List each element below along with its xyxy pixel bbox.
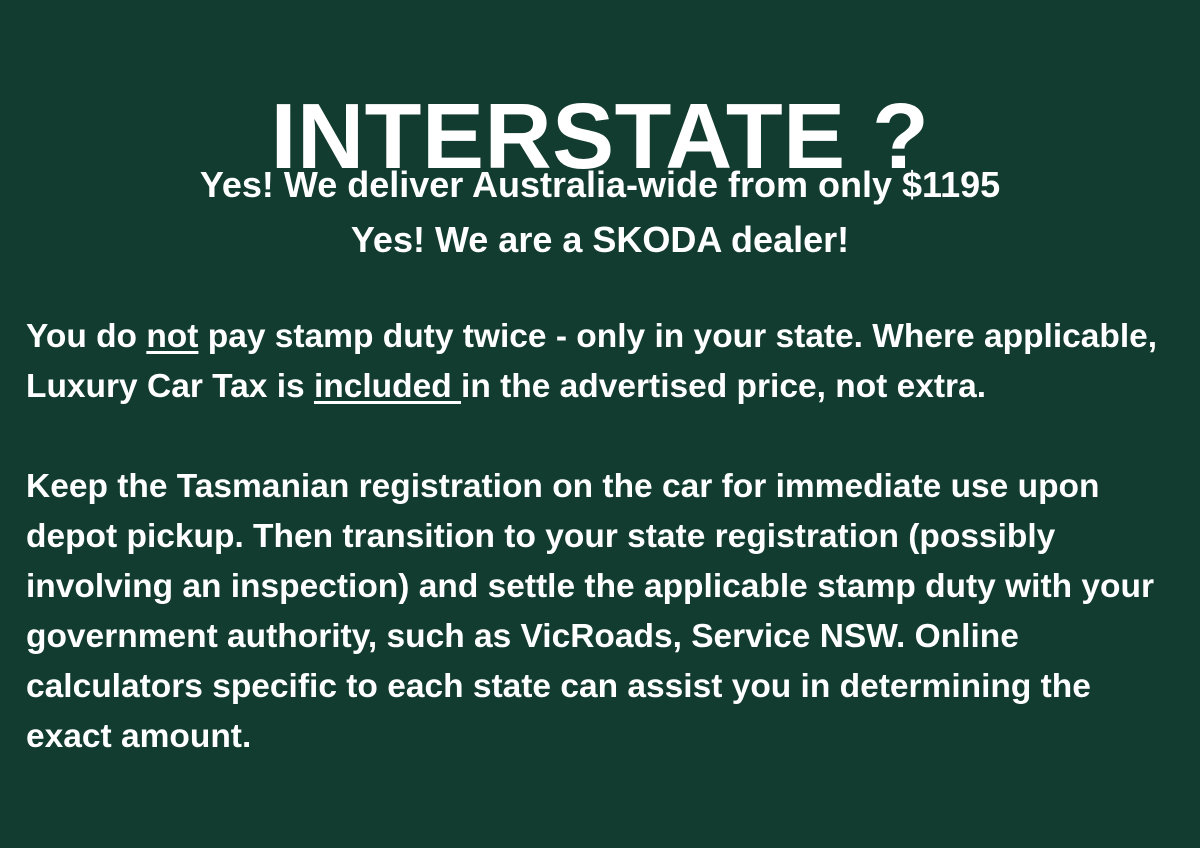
paragraph-stamp-duty: You do not pay stamp duty twice - only i… [26, 312, 1162, 412]
paragraph-spacer [26, 412, 1162, 462]
paragraph1-segment-3: in the advertised price, not extra. [461, 368, 986, 405]
paragraph1-underlined-not: not [146, 318, 198, 355]
promotional-poster: INTERSTATE ? Yes! We deliver Australia-w… [0, 0, 1200, 848]
subtitle-block: Yes! We deliver Australia-wide from only… [0, 158, 1200, 267]
subtitle-line-dealer: Yes! We are a SKODA dealer! [0, 213, 1200, 268]
body-copy: You do not pay stamp duty twice - only i… [26, 312, 1162, 762]
paragraph-registration: Keep the Tasmanian registration on the c… [26, 462, 1162, 762]
paragraph1-underlined-included: included [314, 368, 461, 405]
subtitle-line-delivery: Yes! We deliver Australia-wide from only… [0, 158, 1200, 213]
paragraph1-segment-1: You do [26, 318, 146, 355]
